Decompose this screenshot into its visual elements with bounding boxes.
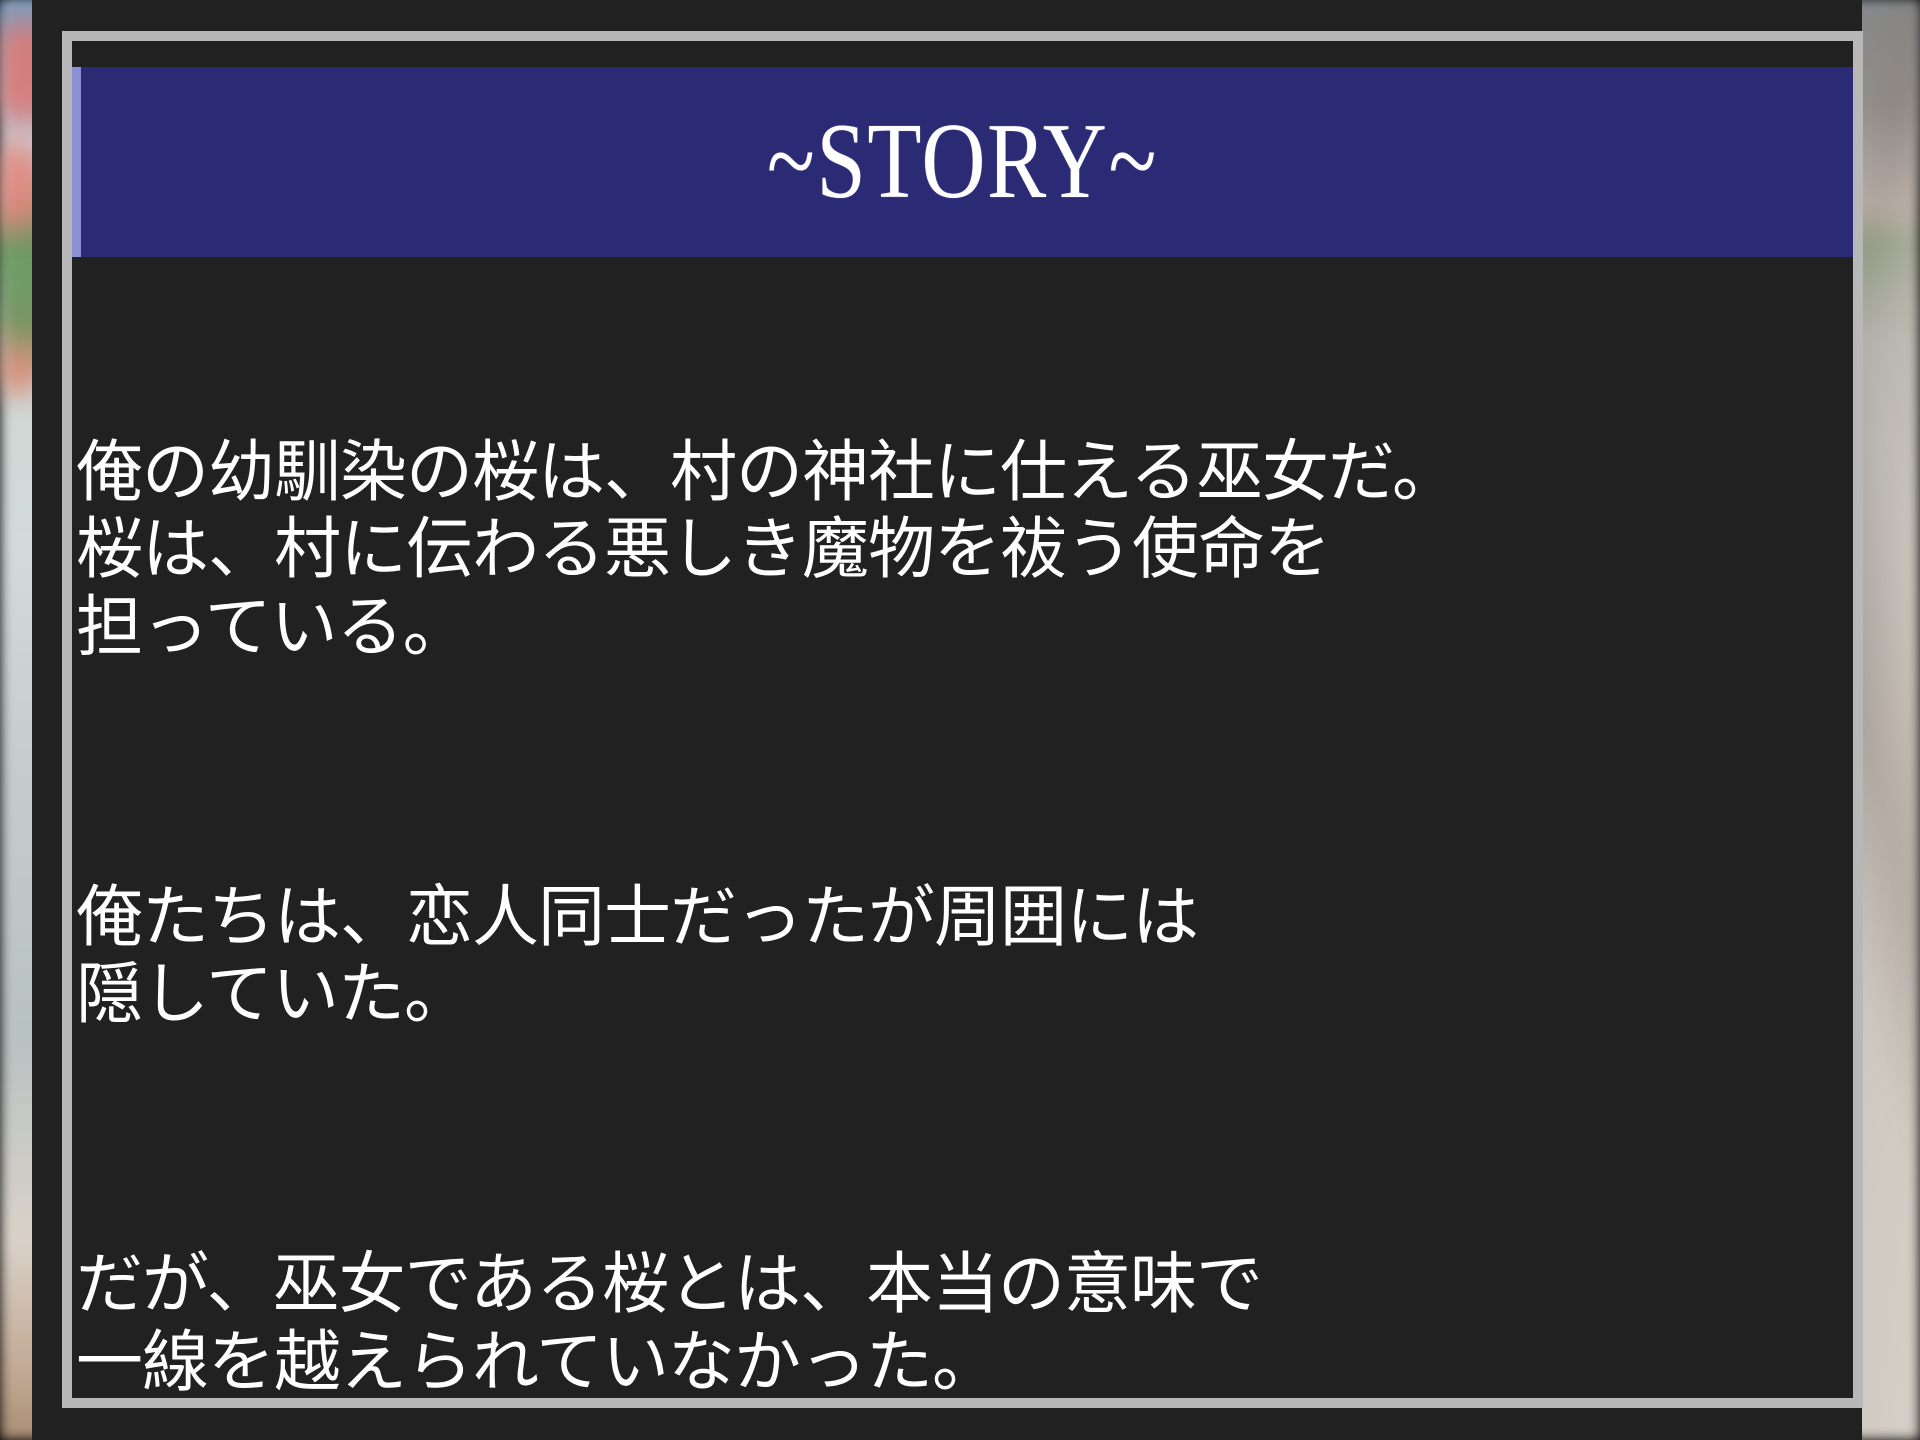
story-text-block: 俺の幼馴染の桜は、村の神社に仕える巫女だ。 桜は、村に伝わる悪しき魔物を祓う使命… bbox=[76, 279, 1845, 1398]
page-title: ~STORY~ bbox=[767, 108, 1158, 216]
story-paragraph-1: 俺の幼馴染の桜は、村の神社に仕える巫女だ。 桜は、村に伝わる悪しき魔物を祓う使命… bbox=[76, 434, 1845, 666]
story-screen: ~STORY~ 俺の幼馴染の桜は、村の神社に仕える巫女だ。 桜は、村に伝わる悪し… bbox=[0, 0, 1920, 1440]
story-paragraph-2: 俺たちは、恋人同士だったが周囲には 隠していた。 bbox=[76, 879, 1845, 1034]
story-panel: ~STORY~ 俺の幼馴染の桜は、村の神社に仕える巫女だ。 桜は、村に伝わる悪し… bbox=[72, 41, 1853, 1398]
story-paragraph-3: だが、巫女である桜とは、本当の意味で 一線を越えられていなかった。 魔物による被… bbox=[76, 1246, 1845, 1398]
story-frame-border: ~STORY~ 俺の幼馴染の桜は、村の神社に仕える巫女だ。 桜は、村に伝わる悪し… bbox=[62, 31, 1863, 1408]
story-title-banner: ~STORY~ bbox=[72, 67, 1853, 257]
